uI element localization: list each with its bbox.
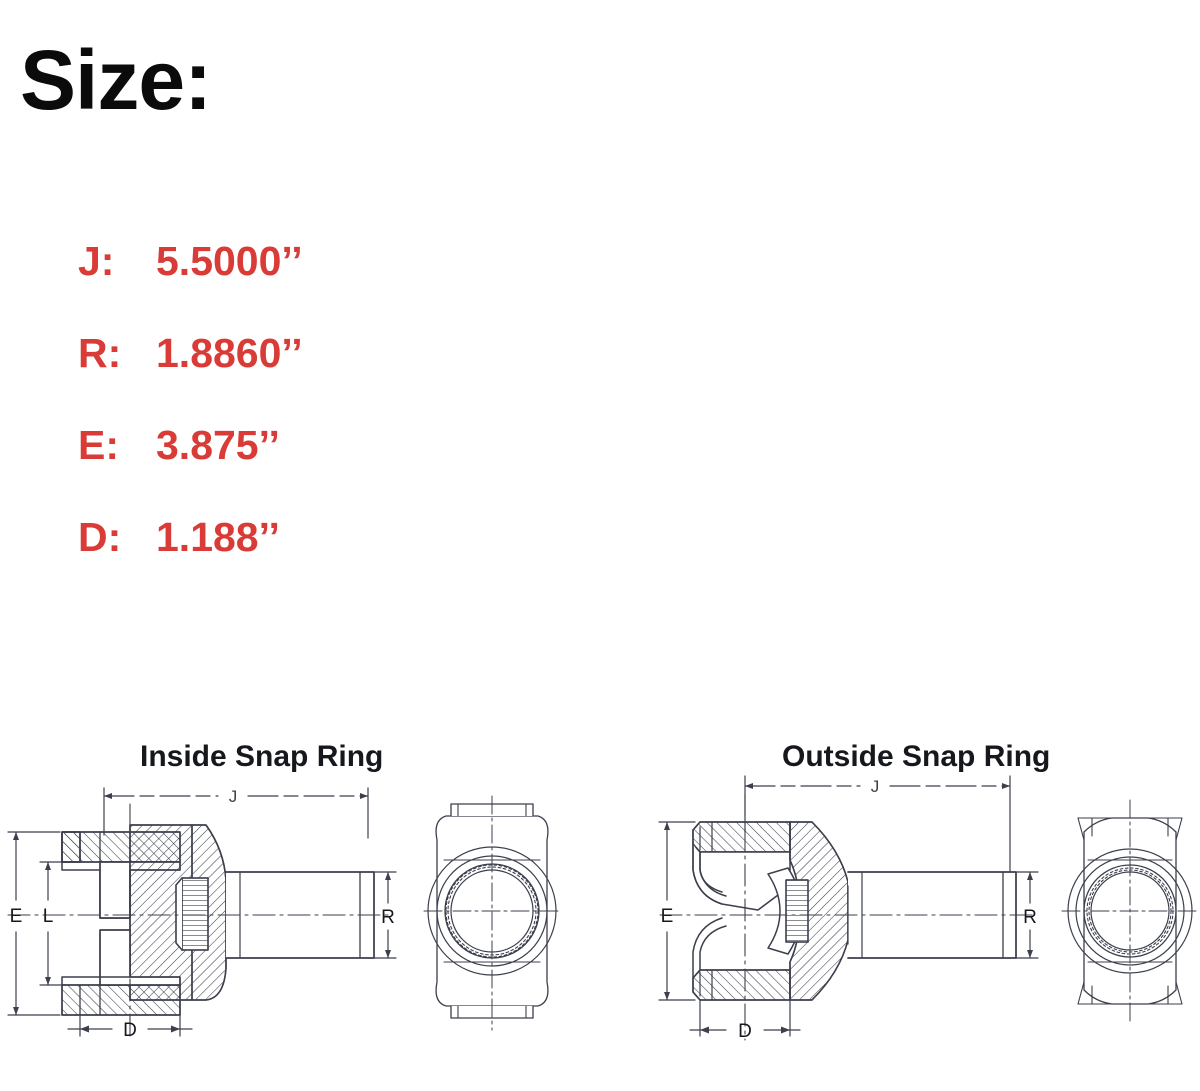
spec-row-r: R: 1.8860’’	[78, 330, 498, 422]
technical-drawings: Inside Snap Ring Outside Snap Ring	[0, 700, 1200, 1091]
size-specification-page: Size: J: 5.5000’’ R: 1.8860’’ E: 3.875’’…	[0, 0, 1200, 1091]
spec-key-e: E:	[78, 422, 156, 469]
dimension-label-e-left: E	[10, 906, 23, 927]
dimension-label-l-left: L	[43, 906, 54, 927]
spec-value-j: 5.5000’’	[156, 238, 303, 285]
inside-snap-ring-end-view	[424, 796, 560, 1030]
dimension-label-r-left: R	[381, 907, 395, 928]
spec-value-e: 3.875’’	[156, 422, 280, 469]
spec-value-d: 1.188’’	[156, 514, 280, 561]
dimension-label-e-right: E	[661, 906, 674, 927]
spec-key-r: R:	[78, 330, 156, 377]
spec-key-d: D:	[78, 514, 156, 561]
spec-key-j: J:	[78, 238, 156, 285]
spec-row-j: J: 5.5000’’	[78, 238, 498, 330]
inside-snap-ring-section-view: J	[8, 787, 396, 1041]
dimension-label-j-right: J	[871, 777, 880, 796]
spec-value-r: 1.8860’’	[156, 330, 303, 377]
yoke-drawings-svg: J	[0, 700, 1200, 1091]
dimension-label-d-left: D	[123, 1020, 137, 1041]
page-title: Size:	[20, 38, 211, 122]
spec-row-e: E: 3.875’’	[78, 422, 498, 514]
spec-row-d: D: 1.188’’	[78, 514, 498, 606]
dimension-label-d-right: D	[738, 1021, 752, 1042]
outside-snap-ring-section-view: J	[659, 776, 1038, 1042]
size-spec-list: J: 5.5000’’ R: 1.8860’’ E: 3.875’’ D: 1.…	[78, 238, 498, 606]
outside-snap-ring-end-view	[1062, 800, 1198, 1025]
dimension-label-r-right: R	[1023, 907, 1037, 928]
dimension-label-j-left: J	[229, 787, 238, 806]
